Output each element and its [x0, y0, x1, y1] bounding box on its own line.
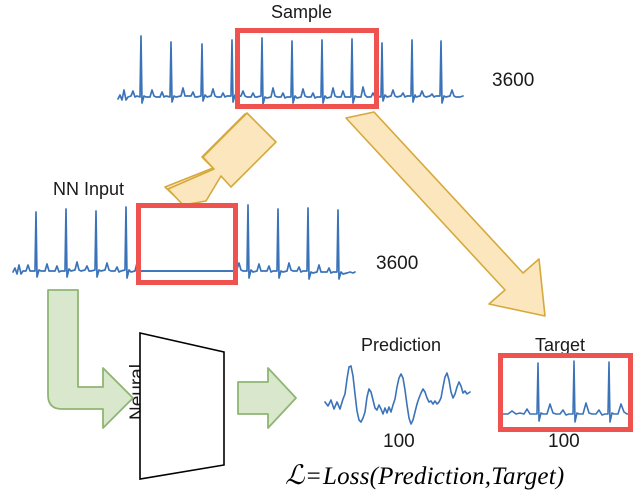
model-to-prediction-arrow: [238, 368, 296, 428]
prediction-signal: [325, 366, 470, 424]
neural-network-block: [140, 333, 224, 479]
sample-to-nn-input-arrow: [165, 113, 276, 205]
figure-canvas: Sample 3600 NN Input 3600 Prediction 100…: [0, 0, 640, 495]
target-ecg-signal: [503, 361, 629, 422]
nn-input-to-model-arrow: [48, 290, 133, 428]
sample-crop-box: [238, 31, 377, 107]
sample-ecg-signal: [118, 36, 463, 104]
nn-input-ecg-signal: [13, 205, 355, 279]
sample-to-target-arrow: [346, 112, 545, 316]
graphics-layer: [0, 0, 640, 495]
